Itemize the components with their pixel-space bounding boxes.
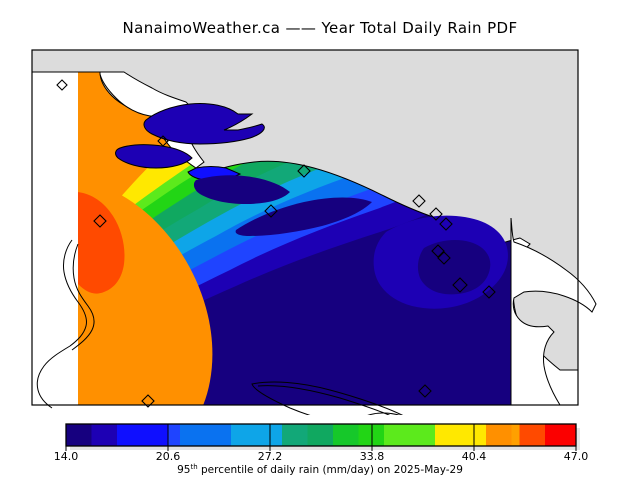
colorbar-tick-label: 20.6	[156, 450, 181, 463]
colorbar-area: 14.0 20.6 27.2 33.8 40.4 47.0 95th perce…	[0, 418, 640, 480]
colorbar-tick-label: 14.0	[54, 450, 79, 463]
colorbar-swatch[interactable]	[168, 424, 180, 446]
caption-superscript: th	[190, 463, 197, 471]
colorbar-swatch[interactable]	[257, 424, 283, 446]
map-plot-area	[0, 40, 640, 415]
colorbar-swatch[interactable]	[66, 424, 92, 446]
colorbar-swatch[interactable]	[512, 424, 520, 446]
colorbar-swatch[interactable]	[520, 424, 546, 446]
colorbar-swatch[interactable]	[143, 424, 169, 446]
colorbar-swatch[interactable]	[180, 424, 206, 446]
caption-prefix: 95	[177, 464, 190, 476]
colorbar-swatch[interactable]	[410, 424, 436, 446]
colorbar-swatch[interactable]	[359, 424, 385, 446]
colorbar-swatch[interactable]	[206, 424, 232, 446]
caption-suffix: percentile of daily rain (mm/day) on 202…	[198, 464, 463, 476]
colorbar-tick-label: 47.0	[564, 450, 589, 463]
colorbar-swatch[interactable]	[545, 424, 576, 446]
colorbar-swatch[interactable]	[486, 424, 512, 446]
colorbar-swatch[interactable]	[282, 424, 308, 446]
colorbar-swatch[interactable]	[308, 424, 334, 446]
weather-map-page: NanaimoWeather.ca —— Year Total Daily Ra…	[0, 0, 640, 480]
colorbar-swatch[interactable]	[461, 424, 487, 446]
colorbar-tick-label: 40.4	[462, 450, 487, 463]
colorbar-swatch[interactable]	[384, 424, 410, 446]
colorbar-swatch[interactable]	[435, 424, 461, 446]
colorbar-caption: 95th percentile of daily rain (mm/day) o…	[177, 463, 463, 476]
colorbar-swatch[interactable]	[117, 424, 143, 446]
colorbar[interactable]: 14.0 20.6 27.2 33.8 40.4 47.0 95th perce…	[0, 418, 640, 480]
page-title: NanaimoWeather.ca —— Year Total Daily Ra…	[0, 19, 640, 37]
colorbar-swatches[interactable]	[66, 424, 576, 446]
colorbar-swatch[interactable]	[231, 424, 257, 446]
contour-map	[0, 40, 640, 415]
colorbar-swatch[interactable]	[92, 424, 118, 446]
colorbar-tick-label: 33.8	[360, 450, 385, 463]
colorbar-tick-label: 27.2	[258, 450, 283, 463]
colorbar-swatch[interactable]	[333, 424, 359, 446]
